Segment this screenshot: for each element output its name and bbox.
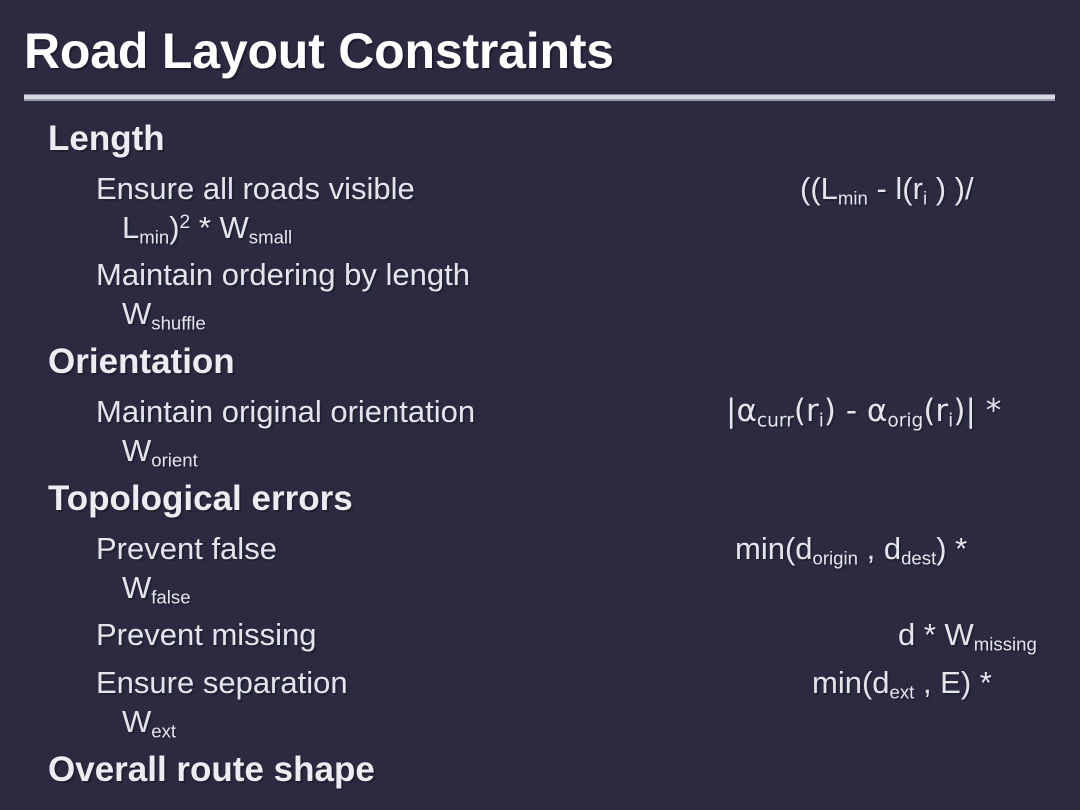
list-item-continuation: Lmin)2 * Wsmall bbox=[0, 209, 1080, 247]
formula-orientation: |αcurr(ri) - αorig(ri)| * bbox=[726, 391, 1001, 432]
list-item-label: Maintain ordering by length bbox=[0, 254, 1080, 295]
section-heading: Orientation bbox=[0, 339, 1080, 385]
page-title: Road Layout Constraints bbox=[24, 22, 1056, 80]
formula-part: ) )/ bbox=[927, 171, 974, 206]
cont-sub: orient bbox=[151, 450, 198, 471]
section-heading: Length bbox=[0, 116, 1080, 162]
formula-sub: orig bbox=[887, 411, 923, 432]
formula-sub: curr bbox=[757, 411, 794, 432]
formula-continuation: Wfalse bbox=[0, 569, 1080, 607]
section-length: Length bbox=[0, 116, 1080, 162]
formula-part: min(d bbox=[812, 665, 890, 700]
list-item: Ensure separation min(dext , E) * bbox=[0, 662, 1080, 703]
formula-part: d * W bbox=[898, 617, 974, 652]
cont-part: * W bbox=[190, 210, 249, 245]
title-block: Road Layout Constraints bbox=[24, 22, 1056, 80]
formula-part: , d bbox=[858, 531, 901, 566]
formula-part: ) * bbox=[936, 531, 967, 566]
section-orientation: Orientation bbox=[0, 339, 1080, 385]
formula-part: ((L bbox=[800, 171, 838, 206]
formula-sub: ext bbox=[890, 682, 915, 703]
formula-part: ) * bbox=[961, 665, 992, 700]
slide-body: Length Ensure all roads visible ((Lmin -… bbox=[0, 116, 1080, 793]
list-item: Ensure all roads visible ((Lmin - l(ri )… bbox=[0, 168, 1080, 209]
cont-part: W bbox=[122, 296, 151, 331]
list-item-continuation: Wshuffle bbox=[0, 295, 1080, 333]
formula-prevent-missing: d * Wmissing bbox=[898, 614, 1037, 655]
spacer bbox=[0, 655, 1080, 662]
formula-part: - l(r bbox=[868, 171, 923, 206]
cont-sub: false bbox=[151, 587, 190, 608]
formula-sub: min bbox=[838, 188, 868, 209]
formula-part: , E bbox=[914, 665, 961, 700]
spacer bbox=[0, 247, 1080, 254]
cont-part: W bbox=[122, 433, 151, 468]
formula-ensure-separation: min(dext , E) * bbox=[812, 662, 992, 703]
list-item: Maintain original orientation |αcurr(ri)… bbox=[0, 391, 1080, 432]
list-item-continuation: Wext bbox=[0, 703, 1080, 741]
formula-sub: origin bbox=[813, 548, 858, 569]
formula-part: |α bbox=[726, 393, 757, 429]
formula-part: ) - α bbox=[824, 393, 887, 429]
list-item: Prevent missing d * Wmissing bbox=[0, 614, 1080, 655]
cont-sub: min bbox=[139, 227, 169, 248]
formula-continuation: Wext bbox=[0, 703, 1080, 741]
formula-sub: dest bbox=[901, 548, 936, 569]
formula-part: (r bbox=[794, 393, 819, 429]
list-item: Prevent false min(dorigin , ddest) * bbox=[0, 528, 1080, 569]
formula-part: min(d bbox=[735, 531, 813, 566]
formula-continuation: Lmin)2 * Wsmall bbox=[0, 209, 1080, 247]
formula-part: )| * bbox=[953, 393, 1001, 429]
cont-sub: shuffle bbox=[151, 313, 205, 334]
cont-part: L bbox=[122, 210, 139, 245]
cont-sup: 2 bbox=[180, 212, 191, 233]
cont-part: W bbox=[122, 570, 151, 605]
section-heading: Topological errors bbox=[0, 476, 1080, 522]
list-item: Maintain ordering by length bbox=[0, 254, 1080, 295]
section-topological-errors: Topological errors bbox=[0, 476, 1080, 522]
cont-part: ) bbox=[169, 210, 179, 245]
slide: Road Layout Constraints Length Ensure al… bbox=[0, 0, 1080, 810]
cont-sub: small bbox=[249, 227, 292, 248]
formula-continuation: Wshuffle bbox=[0, 295, 1080, 333]
list-item-continuation: Wfalse bbox=[0, 569, 1080, 607]
formula-part: (r bbox=[923, 393, 948, 429]
formula-length-visible: ((Lmin - l(ri ) )/ bbox=[800, 168, 974, 209]
section-overall-route-shape: Overall route shape bbox=[0, 747, 1080, 793]
cont-part: W bbox=[122, 704, 151, 739]
formula-prevent-false: min(dorigin , ddest) * bbox=[735, 528, 967, 569]
formula-continuation: Worient bbox=[0, 432, 1080, 470]
formula-sub: missing bbox=[974, 634, 1037, 655]
section-heading: Overall route shape bbox=[0, 747, 1080, 793]
spacer bbox=[0, 607, 1080, 614]
cont-sub: ext bbox=[151, 721, 176, 742]
list-item-continuation: Worient bbox=[0, 432, 1080, 470]
title-divider bbox=[24, 94, 1055, 101]
